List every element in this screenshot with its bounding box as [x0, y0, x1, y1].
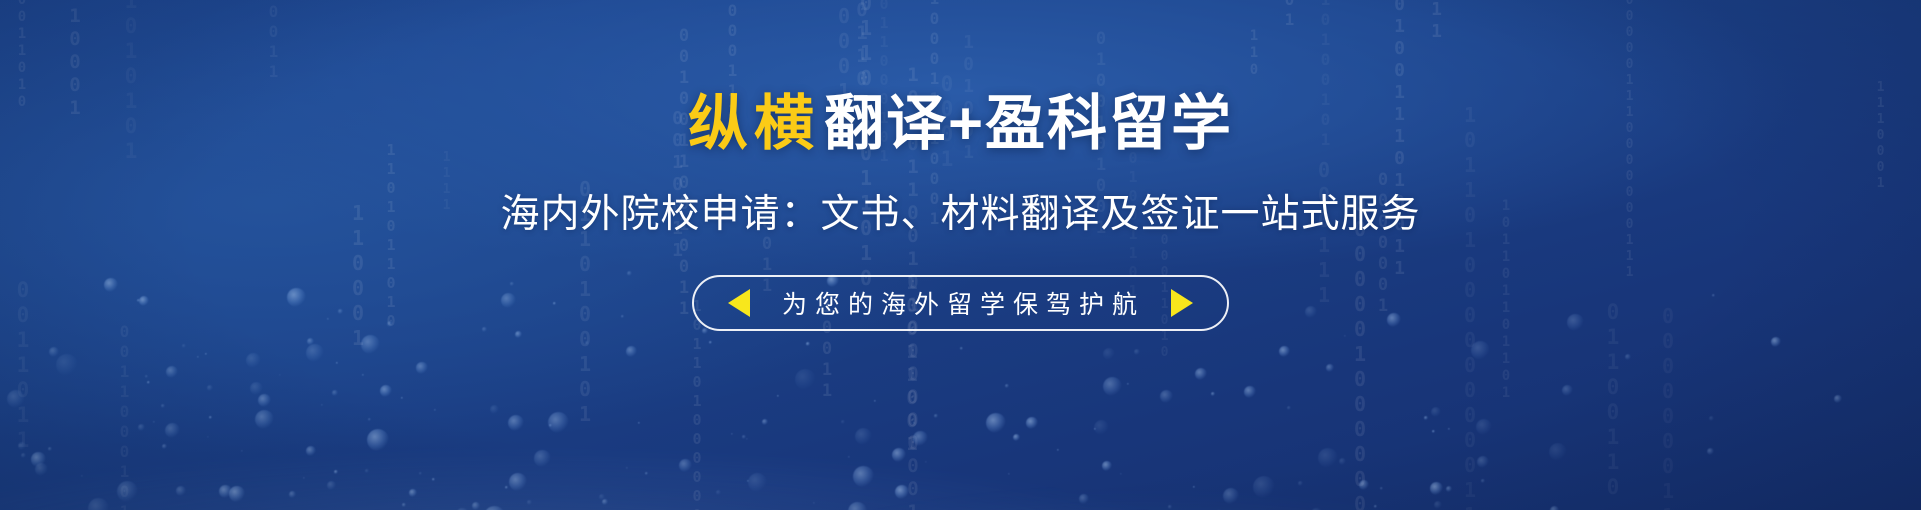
- cta-button-label: 为您的海外留学保驾护航: [776, 285, 1145, 321]
- headline-main: 翻译+盈科留学: [824, 90, 1233, 157]
- headline-accent: 纵横: [688, 90, 824, 157]
- banner-headline: 纵横翻译+盈科留学: [688, 92, 1233, 155]
- banner-content: 纵横翻译+盈科留学 海内外院校申请：文书、材料翻译及签证一站式服务 为您的海外留…: [0, 0, 1921, 510]
- promo-banner: 0000000111000000011110101100101000000001…: [0, 0, 1921, 510]
- triangle-right-icon: [1171, 289, 1193, 317]
- banner-subtitle: 海内外院校申请：文书、材料翻译及签证一站式服务: [500, 183, 1420, 239]
- cta-button[interactable]: 为您的海外留学保驾护航: [692, 275, 1229, 331]
- triangle-left-icon: [728, 289, 750, 317]
